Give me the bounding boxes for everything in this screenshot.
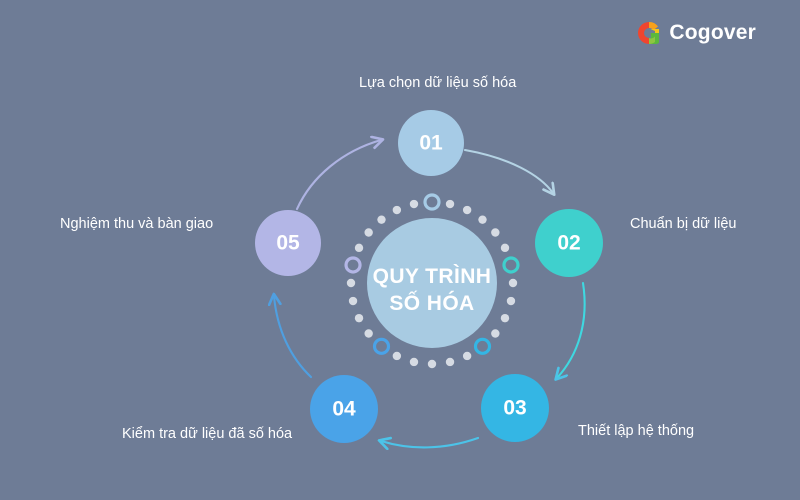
ring-dot <box>509 279 517 287</box>
step-label-02: Chuẩn bị dữ liệu <box>630 215 736 234</box>
ring-dot <box>428 360 436 368</box>
hub-title-line1: QUY TRÌNH <box>373 265 492 288</box>
step-node-05[interactable]: 05 <box>255 210 321 276</box>
arrow-01-to-02 <box>465 150 553 193</box>
arrow-03-to-04 <box>381 438 478 447</box>
arrow-04-to-05 <box>274 296 311 377</box>
hub-circle: QUY TRÌNH SỐ HÓA <box>367 218 497 348</box>
ring-dot <box>349 297 357 305</box>
ring-dot <box>364 329 372 337</box>
ring-dot <box>446 358 454 366</box>
ring-dot <box>347 279 355 287</box>
arrow-05-to-01 <box>297 140 381 209</box>
ring-marker-dot <box>476 339 490 353</box>
ring-marker-dot <box>425 195 439 209</box>
ring-dot <box>410 358 418 366</box>
step-number-02: 02 <box>557 232 580 255</box>
ring-dot <box>393 352 401 360</box>
step-number-03: 03 <box>503 397 526 420</box>
step-number-04: 04 <box>332 398 356 421</box>
ring-dot <box>463 352 471 360</box>
ring-marker-dot <box>346 258 360 272</box>
ring-dot <box>377 215 385 223</box>
ring-dot <box>393 206 401 214</box>
arrow-02-to-03 <box>557 283 585 378</box>
ring-dot <box>364 228 372 236</box>
ring-marker-dot <box>504 258 518 272</box>
step-number-05: 05 <box>276 232 300 255</box>
ring-dot <box>463 206 471 214</box>
ring-dot <box>478 215 486 223</box>
step-node-01[interactable]: 01 <box>398 110 464 176</box>
ring-dot <box>491 329 499 337</box>
ring-marker-dot <box>375 339 389 353</box>
ring-dot <box>501 244 509 252</box>
ring-dot <box>410 200 418 208</box>
step-node-04[interactable]: 04 <box>310 375 378 443</box>
step-node-03[interactable]: 03 <box>481 374 549 442</box>
ring-dot <box>446 200 454 208</box>
hub-title-line2: SỐ HÓA <box>389 291 474 315</box>
ring-dot <box>501 314 509 322</box>
step-label-05: Nghiệm thu và bàn giao <box>60 215 213 234</box>
step-node-02[interactable]: 02 <box>535 209 603 277</box>
step-label-03: Thiết lập hệ thống <box>578 422 694 441</box>
step-label-01: Lựa chọn dữ liệu số hóa <box>359 74 516 93</box>
step-label-04: Kiểm tra dữ liệu đã số hóa <box>122 425 292 444</box>
ring-dot <box>491 228 499 236</box>
step-number-01: 01 <box>419 132 443 155</box>
ring-dot <box>355 314 363 322</box>
ring-dot <box>355 244 363 252</box>
ring-dot <box>507 297 515 305</box>
